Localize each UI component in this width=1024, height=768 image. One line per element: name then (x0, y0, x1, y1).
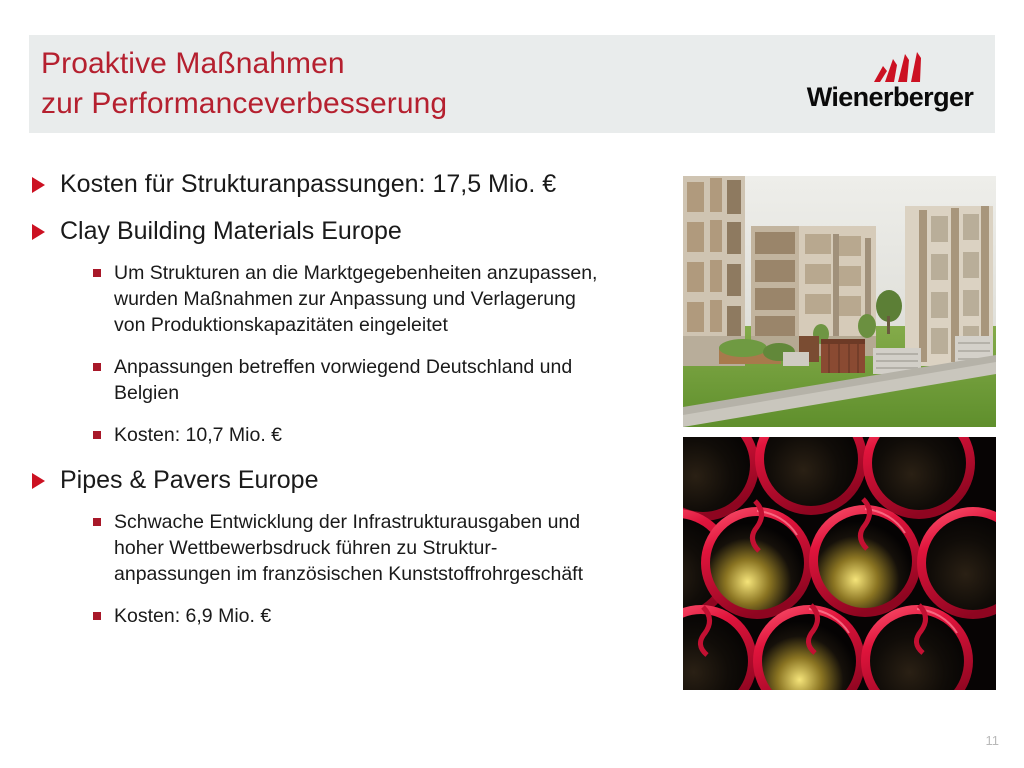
wienerberger-flame-mark-icon (874, 52, 928, 82)
red-plastic-pipes-photo (683, 437, 996, 690)
bullet-level2-text: Schwache Entwicklung der Infrastrukturau… (114, 509, 669, 587)
sublist: Schwache Entwicklung der Infrastrukturau… (60, 509, 669, 629)
list-item: Anpassungen betreffen vorwiegend Deutsch… (91, 354, 669, 406)
bullet-level1-text: Pipes & Pavers Europe (60, 464, 669, 497)
list-item: Kosten für Strukturanpassungen: 17,5 Mio… (29, 168, 669, 201)
wienerberger-wordmark: Wienerberger (790, 82, 990, 113)
triangle-right-icon (32, 177, 45, 193)
bullet-level2-text: Um Strukturen an die Marktgegebenheiten … (114, 260, 669, 338)
residential-apartment-buildings-photo (683, 176, 996, 427)
square-icon (93, 612, 101, 620)
square-icon (93, 363, 101, 371)
square-icon (93, 269, 101, 277)
page-number: 11 (986, 733, 1000, 748)
list-item: Um Strukturen an die Marktgegebenheiten … (91, 260, 669, 338)
list-item: Pipes & Pavers Europe Schwache Entwicklu… (29, 464, 669, 629)
list-item: Kosten: 6,9 Mio. € (91, 603, 669, 629)
bullet-level2-text: Kosten: 10,7 Mio. € (114, 422, 669, 448)
wienerberger-logo: Wienerberger (790, 52, 990, 118)
triangle-right-icon (32, 473, 45, 489)
sublist: Um Strukturen an die Marktgegebenheiten … (60, 260, 669, 448)
list-item: Clay Building Materials Europe Um Strukt… (29, 215, 669, 448)
bullet-level2-text: Anpassungen betreffen vorwiegend Deutsch… (114, 354, 669, 406)
bullet-level2-text: Kosten: 6,9 Mio. € (114, 603, 669, 629)
square-icon (93, 431, 101, 439)
list-item: Kosten: 10,7 Mio. € (91, 422, 669, 448)
list-item: Schwache Entwicklung der Infrastrukturau… (91, 509, 669, 587)
square-icon (93, 518, 101, 526)
bullet-level1-text: Clay Building Materials Europe (60, 215, 669, 248)
bullet-level1-text: Kosten für Strukturanpassungen: 17,5 Mio… (60, 168, 669, 201)
slide-content: Kosten für Strukturanpassungen: 17,5 Mio… (29, 168, 669, 645)
page-title: Proaktive Maßnahmen zur Performanceverbe… (41, 44, 681, 124)
triangle-right-icon (32, 224, 45, 240)
